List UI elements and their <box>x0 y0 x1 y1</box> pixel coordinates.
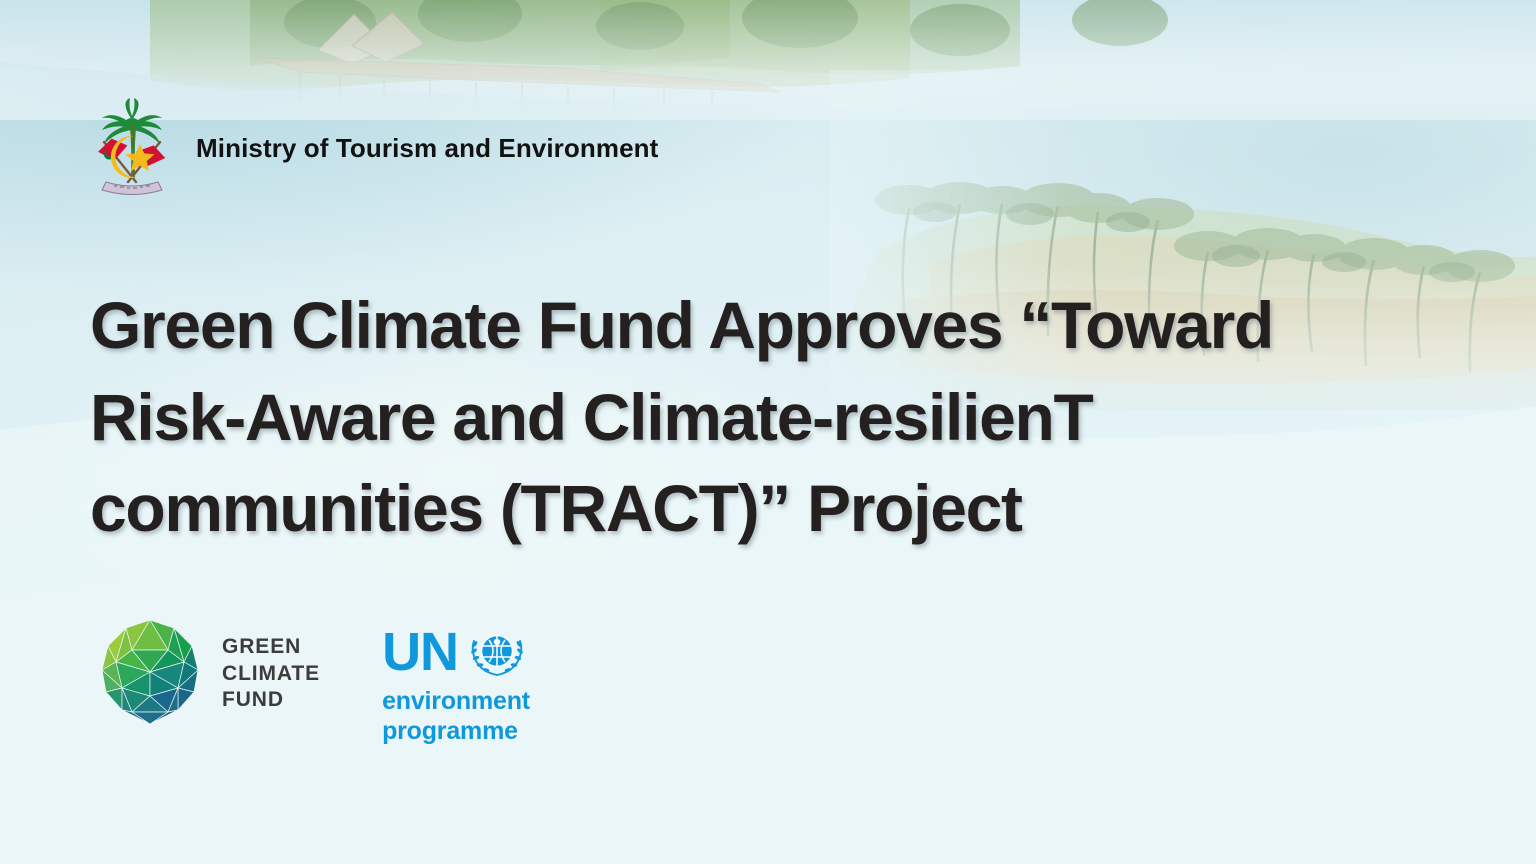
partner-logos: GREEN CLIMATE FUND UN <box>92 616 530 746</box>
unep-subtext: environment programme <box>382 687 530 746</box>
headline-line-1: Green Climate Fund Approves “Toward <box>90 280 1490 372</box>
headline-line-3: communities (TRACT)” Project <box>90 463 1490 555</box>
gcf-wordmark: GREEN CLIMATE FUND <box>222 634 320 713</box>
gcf-word-line-1: GREEN <box>222 634 320 660</box>
unep-logo: UN <box>382 616 530 746</box>
unep-sub-line-2: programme <box>382 717 530 747</box>
unep-un-text: UN <box>382 628 458 678</box>
announcement-slide: Ministry of Tourism and Environment Gree… <box>0 0 1536 864</box>
page-title: Green Climate Fund Approves “Toward Risk… <box>90 280 1490 555</box>
gcf-word-line-2: CLIMATE <box>222 661 320 687</box>
ministry-name: Ministry of Tourism and Environment <box>196 133 658 164</box>
united-nations-emblem-icon <box>468 624 526 682</box>
green-climate-fund-sphere-icon <box>92 616 208 732</box>
green-climate-fund-logo: GREEN CLIMATE FUND <box>92 616 320 732</box>
unep-top-row: UN <box>382 624 530 682</box>
ministry-branding: Ministry of Tourism and Environment <box>84 98 658 198</box>
headline-line-2: Risk-Aware and Climate-resilienT <box>90 372 1490 464</box>
maldives-national-emblem-icon <box>84 98 180 198</box>
gcf-word-line-3: FUND <box>222 687 320 713</box>
unep-sub-line-1: environment <box>382 687 530 717</box>
